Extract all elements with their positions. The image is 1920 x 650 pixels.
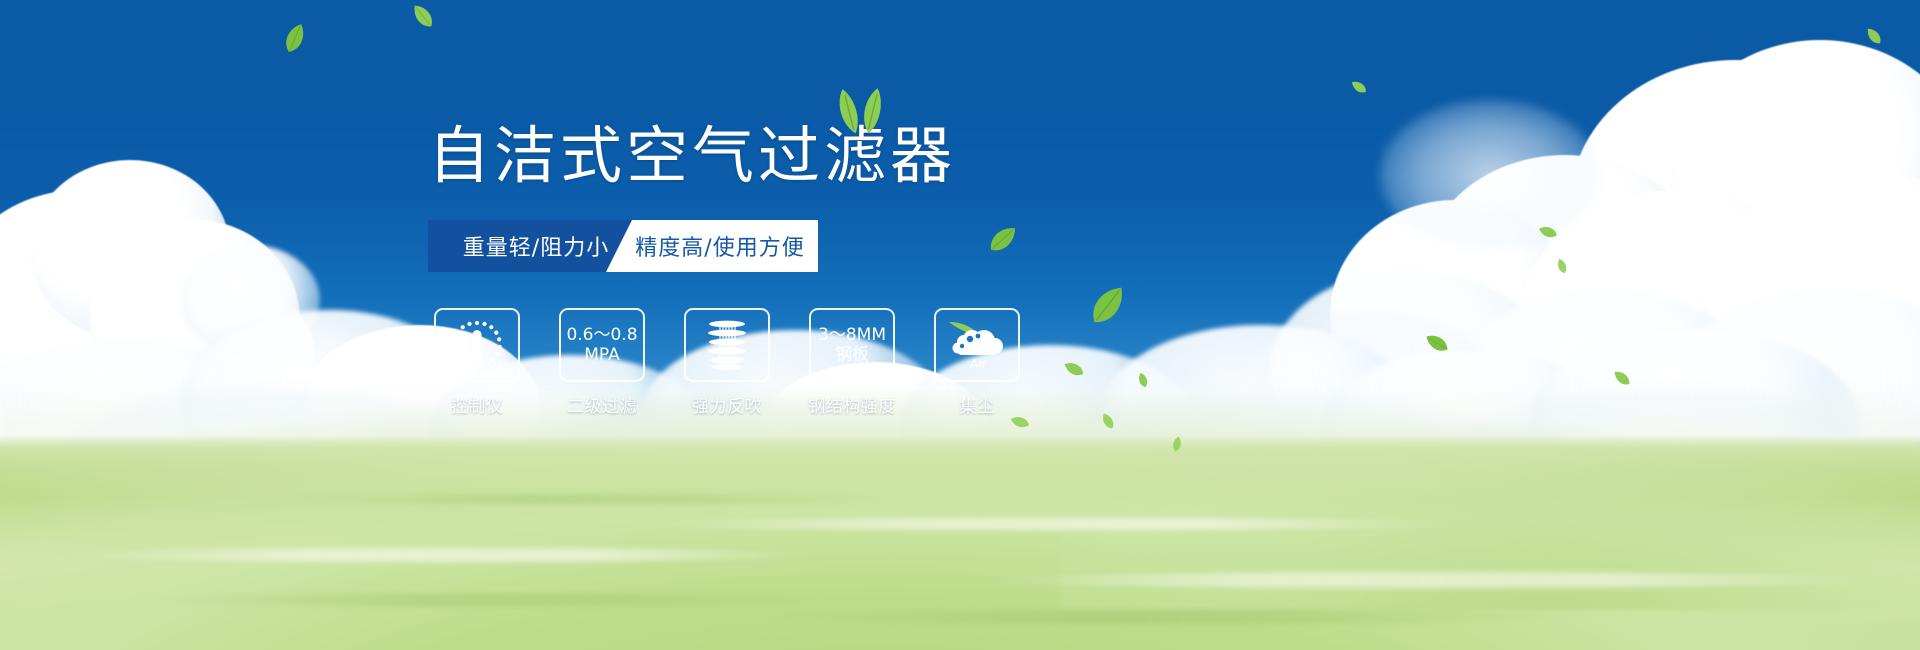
- subtitle-bar: 重量轻/阻力小 精度高/使用方便: [428, 220, 818, 272]
- grass-shadow: [760, 610, 1580, 624]
- feature-item-backblow[interactable]: 强力反吹: [678, 308, 776, 417]
- feature-item-pressure[interactable]: 0.6～0.8 MPA 二级过滤: [553, 308, 651, 417]
- feature-item-dust[interactable]: Air 集尘: [928, 308, 1026, 417]
- feature-icon-box: 0.6～0.8 MPA: [559, 308, 645, 382]
- banner-content: 自洁式空气过滤器 重量轻/阻力小 精度高/使用方便: [428, 120, 1068, 417]
- feature-caption: 钢结构强度: [803, 392, 901, 417]
- grass-highlight: [60, 548, 820, 562]
- feature-caption: 二级过滤: [553, 392, 651, 417]
- feature-item-steel[interactable]: 3～8MM 钢板 钢结构强度: [803, 308, 901, 417]
- feature-item-controller[interactable]: NO OFF 控制仪: [428, 308, 526, 417]
- grass-highlight: [640, 518, 1460, 530]
- title-row: 自洁式空气过滤器: [428, 120, 1068, 202]
- feature-text-line: 钢板: [835, 345, 869, 365]
- filter-cartridge-icon: [700, 317, 754, 373]
- feature-caption: 控制仪: [428, 392, 526, 417]
- feature-text-line: MPA: [584, 345, 619, 365]
- dial-label-off: OFF: [488, 360, 504, 369]
- subtitle-badge-secondary: 精度高/使用方便: [606, 220, 818, 272]
- hero-banner: 自洁式空气过滤器 重量轻/阻力小 精度高/使用方便: [0, 0, 1920, 650]
- air-cloud-icon: Air: [945, 316, 1009, 374]
- feature-icon-box: [684, 308, 770, 382]
- floating-leaf-icon: [1167, 434, 1188, 453]
- feature-icon-box: NO OFF: [434, 308, 520, 382]
- subtitle-badge-secondary-label: 精度高/使用方便: [619, 230, 804, 262]
- feature-text-line: 3～8MM: [818, 325, 886, 345]
- grass-shadow: [140, 594, 840, 606]
- feature-text-line: 0.6～0.8: [566, 325, 637, 345]
- feature-caption: 强力反吹: [678, 392, 776, 417]
- dial-label-on: NO: [449, 339, 461, 348]
- feature-icon-box: 3～8MM 钢板: [809, 308, 895, 382]
- grass-highlight: [980, 572, 1880, 588]
- feature-list: NO OFF 控制仪 0.6～0.8 MPA 二级过滤: [428, 308, 1068, 417]
- subtitle-badge-primary-label: 重量轻/阻力小: [463, 230, 609, 262]
- air-label: Air: [970, 357, 987, 371]
- sprout-leaves-icon: [828, 84, 892, 136]
- feature-icon-box: Air: [934, 308, 1020, 382]
- page-title: 自洁式空气过滤器: [428, 120, 1068, 192]
- dial-gauge-icon: NO OFF: [446, 317, 508, 373]
- grass-shadow: [280, 494, 900, 504]
